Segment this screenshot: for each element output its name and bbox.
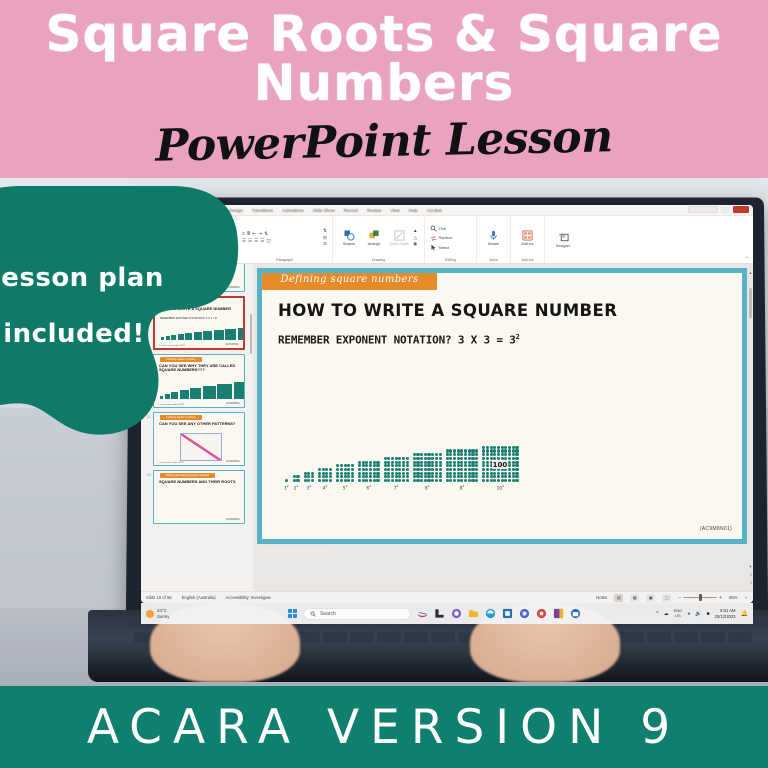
dot <box>482 468 485 471</box>
dot <box>329 472 332 475</box>
dot <box>486 464 489 467</box>
dot <box>512 446 515 449</box>
ribbon-group-label-paragraph: Paragraph <box>242 258 327 262</box>
dot <box>439 475 442 478</box>
tab-record[interactable]: Record <box>344 208 358 213</box>
dot <box>398 479 401 482</box>
quick-styles-label: Quick Styles <box>389 242 409 246</box>
columns-icon[interactable]: ◫ <box>267 239 271 244</box>
ribbon-group-paragraph: ≡ ≣ ⇤ ⇥ ⇅ ☰ ☰ ☰ ☰ ◫ <box>237 216 333 263</box>
arrange-button[interactable]: Arrange <box>363 230 385 246</box>
tab-transitions[interactable]: Transitions <box>252 208 273 213</box>
dot <box>512 461 515 464</box>
dot <box>329 479 332 482</box>
shapes-button[interactable]: Shapes <box>338 230 360 246</box>
bottom-banner: ACARA VERSION 9 <box>0 686 768 768</box>
dot <box>471 457 474 460</box>
dot <box>391 457 394 460</box>
dot <box>464 475 467 478</box>
onenote-icon[interactable] <box>553 608 564 619</box>
designer-button[interactable]: Designer <box>552 232 574 248</box>
outlook-icon[interactable] <box>570 608 581 619</box>
dot-array-label: 32 <box>306 484 311 491</box>
align-text-icon[interactable]: ⊟ <box>323 236 327 241</box>
dot-array <box>318 468 332 482</box>
tab-help[interactable]: Help <box>409 208 418 213</box>
dot <box>420 453 423 456</box>
dot-array-group: 12 <box>284 479 289 491</box>
dot <box>311 479 314 482</box>
tab-view[interactable]: View <box>390 208 399 213</box>
dot <box>468 468 471 471</box>
dot <box>464 457 467 460</box>
zoom-in-button[interactable]: + <box>719 595 722 601</box>
dot <box>446 472 449 475</box>
dot <box>322 468 325 471</box>
dot <box>482 449 485 452</box>
dot <box>490 446 493 449</box>
shape-effects-icon[interactable]: ◉ <box>413 242 418 247</box>
tab-acrobat[interactable]: Acrobat <box>427 208 442 213</box>
slide-copyright: © teach with annabel 2022 <box>261 548 330 554</box>
dot <box>464 464 467 467</box>
dot <box>391 464 394 467</box>
dot <box>501 472 504 475</box>
dot <box>475 453 478 456</box>
dot <box>493 457 496 460</box>
dot <box>424 479 427 482</box>
shape-outline-icon[interactable]: △ <box>413 236 418 241</box>
volume-icon[interactable]: 🔊 <box>695 611 701 617</box>
badge-line-2: included! <box>3 319 144 349</box>
dot <box>376 468 379 471</box>
slide-canvas[interactable]: Defining square numbers HOW TO WRITE A S… <box>262 273 742 539</box>
dot <box>344 468 347 471</box>
folder-icon[interactable] <box>468 608 479 619</box>
chrome-icon[interactable] <box>536 608 547 619</box>
dot <box>471 468 474 471</box>
increase-indent-icon[interactable]: ⇥ <box>258 232 262 237</box>
quick-styles-button[interactable]: Quick Styles <box>388 230 410 246</box>
zoom-track[interactable] <box>683 597 717 599</box>
dot-array-label: 82 <box>425 484 430 491</box>
dot <box>311 472 314 475</box>
dot <box>304 472 307 475</box>
dot <box>504 472 507 475</box>
dot <box>395 468 398 471</box>
tray-sublanguage[interactable]: US <box>675 613 681 618</box>
dot <box>413 461 416 464</box>
dot <box>497 479 500 482</box>
dot <box>376 464 379 467</box>
dot <box>365 479 368 482</box>
dot <box>497 449 500 452</box>
dot <box>490 457 493 460</box>
dot <box>293 479 296 482</box>
square-number-dot-arrays: 122232425262728292100102 <box>284 446 728 491</box>
scroll-down-arrow[interactable]: ▼ <box>749 564 753 569</box>
dot <box>493 472 496 475</box>
dot <box>435 468 438 471</box>
thumbnail-title: SQUARE NUMBERS AND THEIR ROOTS <box>159 480 240 484</box>
dot <box>490 453 493 456</box>
show-hidden-icons-chevron-icon[interactable]: ^ <box>656 611 658 617</box>
slide-scrollbar[interactable] <box>749 288 752 318</box>
ribbon-group-label-voice: Voice <box>482 258 505 262</box>
notes-button[interactable]: Notes <box>596 595 607 600</box>
dot <box>369 468 372 471</box>
dot <box>515 446 518 449</box>
cloud-icon[interactable]: ☁ <box>664 611 669 617</box>
dot <box>504 475 507 478</box>
dot <box>358 472 361 475</box>
dot <box>475 461 478 464</box>
dot <box>486 468 489 471</box>
ribbon-group-voice: Dictate Voice <box>477 216 511 263</box>
dot <box>373 479 376 482</box>
dot <box>457 457 460 460</box>
dot <box>508 472 511 475</box>
dot <box>351 464 354 467</box>
zoom-slider[interactable]: − + <box>678 595 722 601</box>
thumbnail-code: (AC9M8N01) <box>226 518 240 521</box>
dot <box>307 475 310 478</box>
dot <box>475 468 478 471</box>
weather-widget[interactable]: 24°C Sunny <box>146 608 241 618</box>
search-placeholder: Search <box>320 611 336 617</box>
dot <box>293 475 296 478</box>
next-slide-arrow[interactable]: ⇩ <box>749 580 752 585</box>
dot <box>424 457 427 460</box>
dot <box>460 475 463 478</box>
dot <box>446 461 449 464</box>
dot <box>457 472 460 475</box>
dot <box>336 464 339 467</box>
dot <box>427 475 430 478</box>
dot-array-label: 92 <box>460 484 465 491</box>
dot <box>501 446 504 449</box>
dot <box>457 449 460 452</box>
dot <box>369 479 372 482</box>
dot <box>464 468 467 471</box>
dot <box>457 468 460 471</box>
dot <box>486 461 489 464</box>
dot <box>512 475 515 478</box>
dot <box>304 479 307 482</box>
dot <box>413 457 416 460</box>
line-spacing-icon[interactable]: ⇅ <box>264 232 268 237</box>
select-label: Select <box>439 246 450 250</box>
dot <box>365 461 368 464</box>
dot <box>322 472 325 475</box>
window-controls <box>688 206 749 213</box>
tab-slide-show[interactable]: Slide Show <box>313 208 335 213</box>
dot <box>508 464 511 467</box>
dot-array-label: 72 <box>394 484 399 491</box>
dot <box>460 464 463 467</box>
dot <box>449 468 452 471</box>
dot <box>460 479 463 482</box>
dot <box>336 468 339 471</box>
dot <box>453 461 456 464</box>
dot <box>504 479 507 482</box>
text-direction-icon[interactable]: ⇅ <box>323 229 327 234</box>
dot <box>340 475 343 478</box>
dot <box>515 475 518 478</box>
slide-counter[interactable]: Slide 19 of 56 <box>146 595 172 600</box>
dot <box>471 449 474 452</box>
dot <box>486 479 489 482</box>
dot <box>376 461 379 464</box>
dot <box>486 475 489 478</box>
teams-icon[interactable] <box>451 608 462 619</box>
dot <box>460 468 463 471</box>
dot <box>365 472 368 475</box>
align-right-icon[interactable]: ☰ <box>254 239 258 244</box>
dot <box>475 472 478 475</box>
wifi-icon[interactable]: ◕ <box>687 611 690 617</box>
minimize-button[interactable] <box>721 206 730 213</box>
dot <box>515 461 518 464</box>
dot <box>347 468 350 471</box>
dot-array-group: 82 <box>413 453 442 491</box>
clock[interactable]: 9:31 AM 20/12/2023 <box>715 608 736 619</box>
dot <box>413 464 416 467</box>
dot <box>493 479 496 482</box>
arrange-label: Arrange <box>368 242 381 246</box>
tab-review[interactable]: Review <box>367 208 381 213</box>
start-button-icon[interactable] <box>288 609 297 618</box>
onedrive-icon[interactable] <box>519 608 530 619</box>
dot <box>296 475 299 478</box>
slide-section-tag-text: Defining square numbers <box>280 274 418 285</box>
dot <box>482 479 485 482</box>
dot <box>427 479 430 482</box>
dot <box>508 461 511 464</box>
dot <box>453 479 456 482</box>
dot <box>351 472 354 475</box>
addins-button[interactable]: Add-ins <box>517 230 539 246</box>
dot <box>307 472 310 475</box>
dot <box>358 468 361 471</box>
dot <box>508 475 511 478</box>
quick-styles-icon <box>394 230 405 241</box>
search-input[interactable]: Search <box>303 608 411 620</box>
dot-array-value-badge: 100 <box>492 461 509 469</box>
search-icon <box>430 225 437 232</box>
dot <box>475 449 478 452</box>
tray-date: 20/12/2023 <box>715 614 736 619</box>
ribbon-group-addins: Add-ins Add-ins <box>511 216 545 263</box>
dot <box>391 479 394 482</box>
dot <box>322 475 325 478</box>
dot <box>515 479 518 482</box>
dot <box>482 453 485 456</box>
dot <box>508 446 511 449</box>
ribbon-group-label-addins: Add-ins <box>516 258 539 262</box>
dot <box>475 479 478 482</box>
dot <box>384 472 387 475</box>
dot <box>515 464 518 467</box>
dot <box>362 468 365 471</box>
dot <box>431 464 434 467</box>
dot <box>471 461 474 464</box>
dot <box>387 479 390 482</box>
dot <box>490 472 493 475</box>
dot <box>358 464 361 467</box>
dot <box>431 472 434 475</box>
zoom-out-button[interactable]: − <box>678 595 681 601</box>
shape-fill-icon[interactable]: ▲ <box>413 229 418 234</box>
dot-array-group: 62 <box>358 461 380 492</box>
slide-show-view-button[interactable]: ▢ <box>662 594 671 602</box>
dot <box>453 472 456 475</box>
store-icon[interactable] <box>502 608 513 619</box>
zoom-level: 85% <box>729 595 737 600</box>
ribbon-group-editing: Find Replace Select <box>425 216 477 263</box>
decrease-indent-icon[interactable]: ⇤ <box>253 232 257 237</box>
dot <box>446 457 449 460</box>
dot <box>446 475 449 478</box>
dot <box>362 479 365 482</box>
tray-time: 9:31 AM <box>720 608 735 613</box>
dot <box>460 453 463 456</box>
taskbar-center: Search <box>288 608 581 620</box>
dot <box>486 453 489 456</box>
dot <box>416 457 419 460</box>
dot <box>420 475 423 478</box>
list-item[interactable]: 22 Defining and naming square numbers SQ… <box>143 470 249 524</box>
dot <box>413 479 416 482</box>
dot <box>457 475 460 478</box>
dot <box>464 472 467 475</box>
bottom-banner-text: ACARA VERSION 9 <box>87 700 681 755</box>
page-title: Square Roots & Square Numbers <box>0 10 768 108</box>
accessibility-status[interactable]: Accessibility: Investigate <box>226 595 271 600</box>
lesson-plan-badge: Lesson plan included! <box>0 176 250 471</box>
dot <box>449 449 452 452</box>
thumbnail-card[interactable]: Defining and naming square numbers SQUAR… <box>153 470 245 524</box>
dot <box>307 479 310 482</box>
dot <box>416 472 419 475</box>
thumbnail-number: 22 <box>143 470 151 477</box>
dot-array <box>285 479 288 482</box>
zoom-knob[interactable] <box>699 594 702 601</box>
dot <box>431 468 434 471</box>
dot <box>457 453 460 456</box>
dot <box>501 453 504 456</box>
dot <box>347 475 350 478</box>
previous-slide-arrow[interactable]: ⇧ <box>749 572 752 577</box>
dot <box>431 453 434 456</box>
replace-button[interactable]: Replace <box>430 235 452 242</box>
slide-sorter-view-button[interactable]: ▦ <box>630 594 639 602</box>
battery-icon[interactable]: ■ <box>707 611 710 617</box>
dot <box>449 461 452 464</box>
dictate-button[interactable]: Dictate <box>483 230 505 246</box>
dot <box>358 479 361 482</box>
dot <box>325 468 328 471</box>
dot <box>329 468 332 471</box>
top-title-banner: Square Roots & Square Numbers PowerPoint… <box>0 0 768 178</box>
dot <box>515 449 518 452</box>
dot <box>471 472 474 475</box>
dot <box>376 472 379 475</box>
dot <box>384 457 387 460</box>
dot <box>427 468 430 471</box>
dot <box>344 464 347 467</box>
dot <box>453 464 456 467</box>
dot <box>468 479 471 482</box>
dot <box>391 468 394 471</box>
dot <box>515 453 518 456</box>
dot <box>351 479 354 482</box>
slide-body-text: REMEMBER EXPONENT NOTATION? 3 X 3 = 32 <box>278 333 520 347</box>
normal-view-button[interactable]: ▤ <box>614 594 623 602</box>
dot <box>340 468 343 471</box>
convert-to-smartart-icon[interactable]: ⚖ <box>323 242 327 247</box>
dot <box>406 475 409 478</box>
dot <box>420 464 423 467</box>
dot <box>347 479 350 482</box>
dot <box>435 453 438 456</box>
close-icon[interactable] <box>733 206 749 213</box>
dot <box>376 479 379 482</box>
file-explorer-dark-icon[interactable] <box>434 608 445 619</box>
fit-to-window-button[interactable]: ✧ <box>744 595 748 600</box>
notification-bell-icon[interactable]: 🔔 <box>741 610 748 617</box>
dot <box>486 457 489 460</box>
dot <box>460 472 463 475</box>
dot <box>471 479 474 482</box>
dot <box>416 479 419 482</box>
windows-taskbar: 24°C Sunny Search <box>141 603 753 624</box>
justify-icon[interactable]: ☰ <box>260 239 264 244</box>
dot <box>446 479 449 482</box>
search-icon <box>310 611 316 617</box>
dot <box>468 457 471 460</box>
dot <box>508 457 511 460</box>
dot <box>471 453 474 456</box>
paint-icon[interactable] <box>417 608 428 619</box>
tab-animations[interactable]: Animations <box>282 208 304 213</box>
dot <box>515 472 518 475</box>
dot <box>424 464 427 467</box>
language-indicator[interactable]: English (Australia) <box>182 595 216 600</box>
dot <box>453 468 456 471</box>
dot <box>325 472 328 475</box>
scroll-up-arrow[interactable]: ▲ <box>749 270 753 275</box>
current-slide[interactable]: Defining square numbers HOW TO WRITE A S… <box>257 268 747 544</box>
acara-code: (AC9M8N01) <box>700 526 732 532</box>
edge-icon[interactable] <box>485 608 496 619</box>
share-button[interactable] <box>688 206 718 213</box>
dot-array-group: 100102 <box>482 446 518 491</box>
find-button[interactable]: Find <box>430 225 452 232</box>
select-button[interactable]: Select <box>430 244 452 251</box>
reading-view-button[interactable]: ▣ <box>646 594 655 602</box>
dot <box>449 453 452 456</box>
dot <box>406 479 409 482</box>
thumbnail-tag: Defining and naming square numbers <box>160 473 215 478</box>
dot <box>457 479 460 482</box>
dot <box>475 464 478 467</box>
collapse-ribbon-icon[interactable]: ⌄ <box>745 254 749 260</box>
addins-icon <box>522 230 533 241</box>
dot <box>318 472 321 475</box>
dot <box>508 449 511 452</box>
dot <box>373 468 376 471</box>
